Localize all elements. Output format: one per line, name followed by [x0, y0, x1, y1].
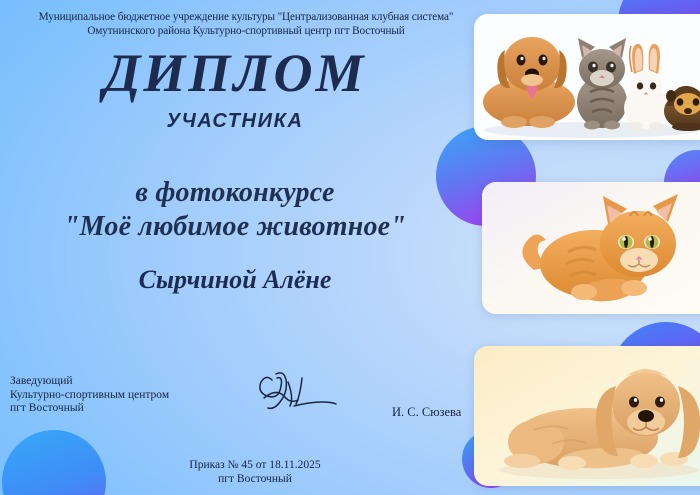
- signer-name: И. С. Сюзева: [392, 405, 461, 420]
- page-subtitle: УЧАСТНИКА: [0, 110, 470, 133]
- signer-role-line-3: пгт Восточный: [10, 402, 169, 416]
- page-title: ДИПЛОМ: [0, 44, 470, 102]
- contest-name: в фотоконкурсе "Моё любимое животное": [0, 176, 470, 244]
- organization-header: Муниципальное бюджетное учреждение культ…: [0, 10, 492, 38]
- order-block: Приказ № 45 от 18.11.2025 пгт Восточный: [80, 458, 430, 486]
- order-line-1: Приказ № 45 от 18.11.2025: [80, 458, 430, 472]
- signer-role-block: Заведующий Культурно-спортивным центром …: [10, 375, 169, 416]
- signer-role-line-1: Заведующий: [10, 375, 169, 389]
- photo-ginger-kitten: [482, 182, 700, 314]
- signature-icon: [258, 368, 348, 414]
- organization-line-2: Омутнинского района Культурно-спортивный…: [0, 24, 492, 38]
- contest-line-2: "Моё любимое животное": [0, 210, 470, 244]
- handwritten-signature: [258, 368, 348, 414]
- photo-pets-group: [474, 14, 700, 140]
- ginger-kitten-illustration: [482, 182, 700, 314]
- signer-role-line-2: Культурно-спортивным центром: [10, 389, 169, 403]
- pets-group-illustration: [474, 14, 700, 140]
- spaniel-puppy-illustration: [474, 346, 700, 486]
- contest-line-1: в фотоконкурсе: [0, 176, 470, 210]
- diploma-certificate: Муниципальное бюджетное учреждение культ…: [0, 0, 700, 495]
- organization-line-1: Муниципальное бюджетное учреждение культ…: [0, 10, 492, 24]
- photo-spaniel-puppy: [474, 346, 700, 486]
- recipient-name: Сырчиной Алёне: [0, 265, 470, 295]
- order-line-2: пгт Восточный: [80, 472, 430, 486]
